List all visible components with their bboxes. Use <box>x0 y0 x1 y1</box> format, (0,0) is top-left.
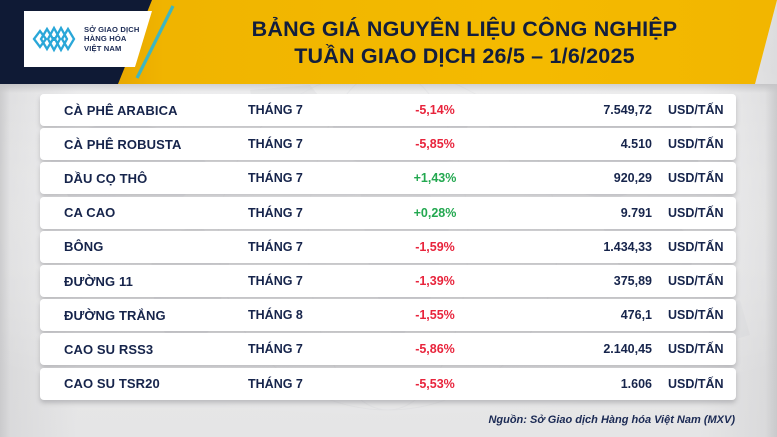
cell-change-percent: -5,86% <box>370 342 500 356</box>
table-row[interactable]: CA CAOTHÁNG 7+0,28%9.791USD/TẤN <box>40 197 736 229</box>
table-row[interactable]: DẦU CỌ THÔTHÁNG 7+1,43%920,29USD/TẤN <box>40 162 736 194</box>
cell-unit: USD/TẤN <box>668 240 724 254</box>
cell-unit: USD/TẤN <box>668 342 724 356</box>
cell-price: 1.434,33 <box>500 240 652 254</box>
cell-commodity-name: CAO SU TSR20 <box>64 376 160 391</box>
cell-price: 7.549,72 <box>500 103 652 117</box>
cell-price: 920,29 <box>500 171 652 185</box>
brand-line-3: VIỆT NAM <box>84 44 140 53</box>
cell-price: 375,89 <box>500 274 652 288</box>
cell-contract-month: THÁNG 7 <box>248 137 368 151</box>
price-board: SỞ GIAO DỊCH HÀNG HÓA VIỆT NAM BẢNG GIÁ … <box>0 0 777 437</box>
mxv-logo-icon <box>31 22 79 56</box>
cell-unit: USD/TẤN <box>668 171 724 185</box>
cell-contract-month: THÁNG 7 <box>248 274 368 288</box>
cell-change-percent: +0,28% <box>370 206 500 220</box>
cell-unit: USD/TẤN <box>668 137 724 151</box>
cell-commodity-name: BÔNG <box>64 239 103 254</box>
header-banner: SỞ GIAO DỊCH HÀNG HÓA VIỆT NAM BẢNG GIÁ … <box>0 0 777 84</box>
right-edge-shade <box>765 84 777 437</box>
cell-unit: USD/TẤN <box>668 274 724 288</box>
page-title: BẢNG GIÁ NGUYÊN LIỆU CÔNG NGHIỆP TUẦN GI… <box>172 6 757 80</box>
cell-price: 2.140,45 <box>500 342 652 356</box>
table-row[interactable]: BÔNGTHÁNG 7-1,59%1.434,33USD/TẤN <box>40 231 736 263</box>
cell-price: 1.606 <box>500 377 652 391</box>
cell-commodity-name: CAO SU RSS3 <box>64 342 153 357</box>
cell-change-percent: +1,43% <box>370 171 500 185</box>
cell-unit: USD/TẤN <box>668 377 724 391</box>
cell-contract-month: THÁNG 7 <box>248 103 368 117</box>
table-row[interactable]: ĐƯỜNG TRẮNGTHÁNG 8-1,55%476,1USD/TẤN <box>40 299 736 331</box>
cell-unit: USD/TẤN <box>668 103 724 117</box>
cell-commodity-name: CÀ PHÊ ROBUSTA <box>64 137 181 152</box>
cell-unit: USD/TẤN <box>668 308 724 322</box>
brand-line-1: SỞ GIAO DỊCH <box>84 25 140 34</box>
cell-price: 476,1 <box>500 308 652 322</box>
cell-change-percent: -5,14% <box>370 103 500 117</box>
brand-logo-text: SỞ GIAO DỊCH HÀNG HÓA VIỆT NAM <box>84 25 140 53</box>
left-edge-shade <box>0 84 10 437</box>
cell-change-percent: -1,55% <box>370 308 500 322</box>
cell-commodity-name: ĐƯỜNG TRẮNG <box>64 308 166 323</box>
table-row[interactable]: CÀ PHÊ ARABICATHÁNG 7-5,14%7.549,72USD/T… <box>40 94 736 126</box>
cell-commodity-name: DẦU CỌ THÔ <box>64 171 147 186</box>
table-row[interactable]: CÀ PHÊ ROBUSTATHÁNG 7-5,85%4.510USD/TẤN <box>40 128 736 160</box>
cell-price: 9.791 <box>500 206 652 220</box>
cell-contract-month: THÁNG 7 <box>248 240 368 254</box>
cell-contract-month: THÁNG 8 <box>248 308 368 322</box>
source-note: Nguồn: Sở Giao dịch Hàng hóa Việt Nam (M… <box>488 414 735 426</box>
cell-commodity-name: ĐƯỜNG 11 <box>64 274 133 289</box>
title-line-1: BẢNG GIÁ NGUYÊN LIỆU CÔNG NGHIỆP <box>252 16 678 43</box>
table-row[interactable]: CAO SU TSR20THÁNG 7-5,53%1.606USD/TẤN <box>40 368 736 400</box>
brand-line-2: HÀNG HÓA <box>84 34 140 43</box>
table-row[interactable]: CAO SU RSS3THÁNG 7-5,86%2.140,45USD/TẤN <box>40 333 736 365</box>
cell-contract-month: THÁNG 7 <box>248 342 368 356</box>
cell-change-percent: -5,53% <box>370 377 500 391</box>
cell-change-percent: -5,85% <box>370 137 500 151</box>
cell-price: 4.510 <box>500 137 652 151</box>
cell-contract-month: THÁNG 7 <box>248 206 368 220</box>
commodity-price-table: CÀ PHÊ ARABICATHÁNG 7-5,14%7.549,72USD/T… <box>0 88 777 398</box>
title-line-2: TUẦN GIAO DỊCH 26/5 – 1/6/2025 <box>294 43 635 70</box>
cell-unit: USD/TẤN <box>668 206 724 220</box>
cell-change-percent: -1,59% <box>370 240 500 254</box>
cell-commodity-name: CÀ PHÊ ARABICA <box>64 103 178 118</box>
cell-commodity-name: CA CAO <box>64 205 115 220</box>
cell-change-percent: -1,39% <box>370 274 500 288</box>
table-row[interactable]: ĐƯỜNG 11THÁNG 7-1,39%375,89USD/TẤN <box>40 265 736 297</box>
cell-contract-month: THÁNG 7 <box>248 377 368 391</box>
cell-contract-month: THÁNG 7 <box>248 171 368 185</box>
brand-logo-card: SỞ GIAO DỊCH HÀNG HÓA VIỆT NAM <box>24 11 152 67</box>
